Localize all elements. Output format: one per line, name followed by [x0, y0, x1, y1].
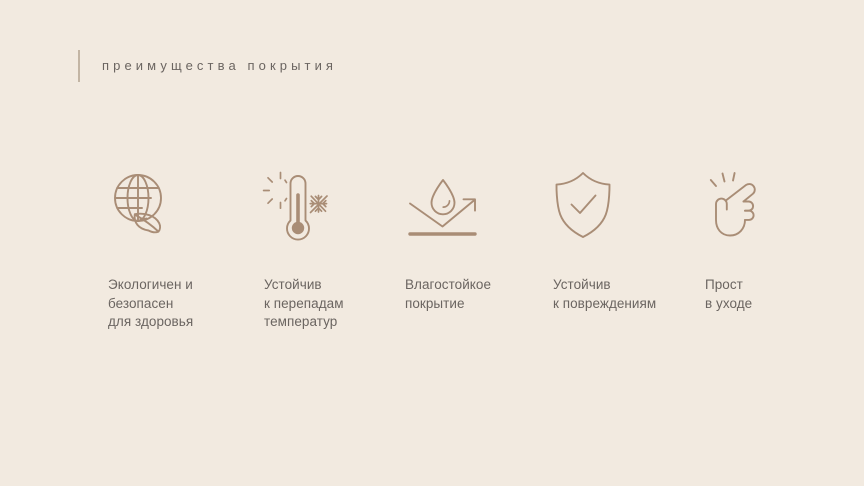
feature-label-easy-care: Прост в уходе — [705, 276, 825, 313]
page-header: преимущества покрытия — [78, 50, 337, 82]
slide-root: преимущества покрытия — [0, 0, 864, 486]
features-row: Экологичен и безопасен для здоровья — [0, 170, 864, 350]
vertical-accent-rule — [78, 50, 80, 82]
thermometer-sun-snowflake-icon — [264, 170, 404, 240]
feature-label-moisture: Влагостойкое покрытие — [405, 276, 545, 313]
globe-leaf-icon — [108, 170, 248, 240]
feature-item-easy-care: Прост в уходе — [705, 170, 825, 313]
shield-check-icon — [553, 170, 703, 240]
feature-item-temperature: Устойчив к перепадам температур — [264, 170, 404, 332]
feature-item-durability: Устойчив к повреждениям — [553, 170, 703, 313]
feature-label-durability: Устойчив к повреждениям — [553, 276, 703, 313]
feature-label-eco: Экологичен и безопасен для здоровья — [108, 276, 248, 332]
page-title: преимущества покрытия — [102, 50, 337, 82]
feature-item-eco: Экологичен и безопасен для здоровья — [108, 170, 248, 332]
feature-label-temperature: Устойчив к перепадам температур — [264, 276, 404, 332]
tap-hand-icon — [705, 170, 825, 240]
water-droplet-repellent-icon — [405, 170, 545, 248]
feature-item-moisture: Влагостойкое покрытие — [405, 170, 545, 313]
